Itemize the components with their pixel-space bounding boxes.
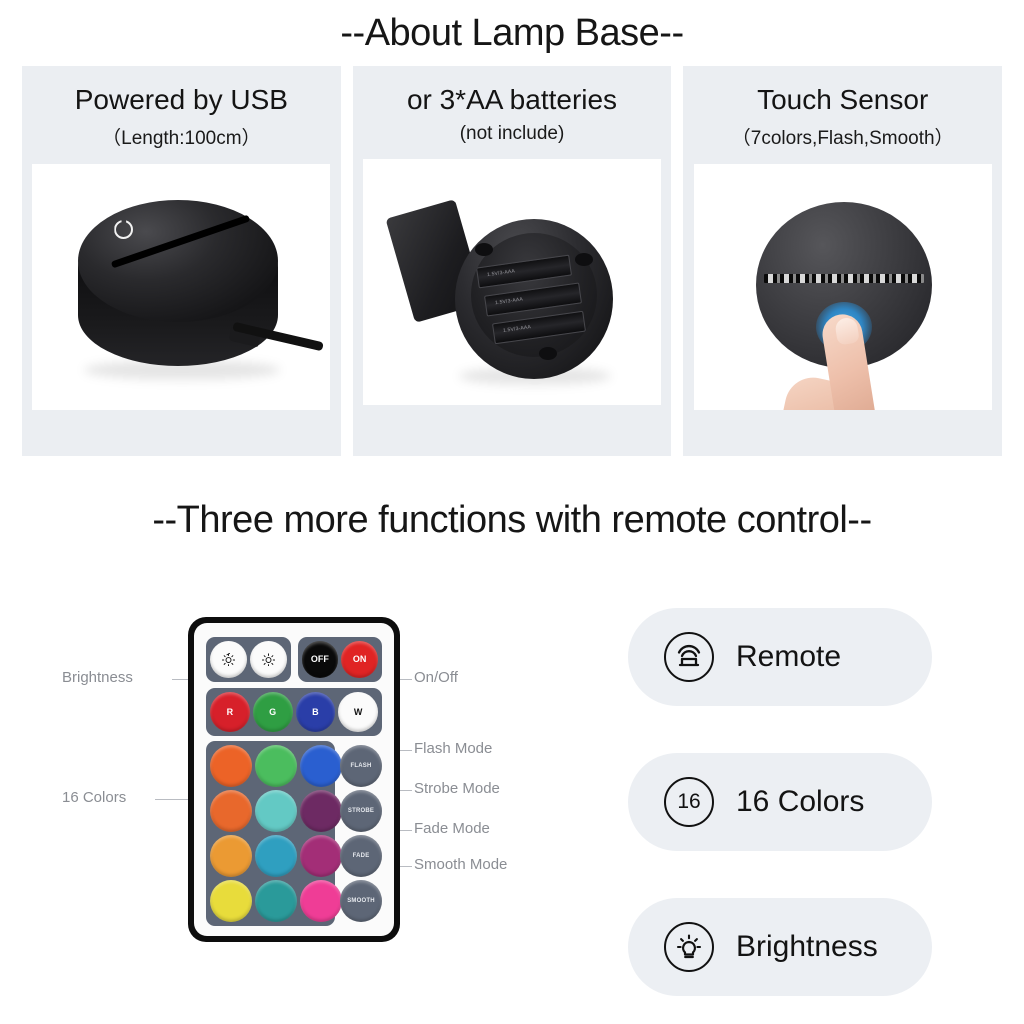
usb-lamp-base-photo [32, 164, 330, 410]
remote-control[interactable]: OFF ON R G B [188, 617, 400, 942]
color-swatch-button[interactable] [210, 790, 252, 832]
rgbw-pad: R G B W [206, 688, 382, 736]
remote-faceplate: OFF ON R G B [194, 623, 394, 936]
lamp-base-cards-row: Powered by USB （Length:100cm） or 3*AA ba… [22, 66, 1002, 456]
strobe-mode-label: STROBE [348, 808, 374, 814]
battery-slot: 1.5V/3-AAA [484, 283, 582, 317]
blue-button-label: B [312, 707, 319, 717]
feature-pill-label: Remote [736, 640, 841, 674]
battery-compartment-photo: 1.5V/3-AAA 1.5V/3-AAA 1.5V/3-AAA [363, 159, 661, 405]
color-swatch-button[interactable] [210, 880, 252, 922]
color-grid [206, 741, 335, 926]
color-swatch-button[interactable] [210, 745, 252, 787]
green-button[interactable]: G [253, 692, 293, 732]
callout-strobe-mode-label: Strobe Mode [414, 780, 500, 797]
card-title: Powered by USB [75, 84, 288, 116]
flash-mode-label: FLASH [351, 763, 372, 769]
color-swatch-button[interactable] [300, 745, 342, 787]
battery-slot-label: 1.5V/3-AAA [487, 268, 516, 278]
lightbulb-icon [664, 922, 714, 972]
section-title-remote: --Three more functions with remote contr… [0, 499, 1024, 542]
white-button[interactable]: W [338, 692, 378, 732]
feature-pill-label: 16 Colors [736, 785, 864, 819]
color-swatch-button[interactable] [255, 745, 297, 787]
battery-slot: 1.5V/3-AAA [476, 255, 572, 289]
remote-top-row: OFF ON [206, 637, 382, 688]
brightness-pad [206, 637, 291, 682]
callout-onoff-label: On/Off [414, 669, 458, 686]
mode-buttons-column: FLASH STROBE FADE SMOOTH [340, 741, 382, 926]
brightness-down-icon [262, 653, 275, 666]
battery-slot: 1.5V/3-AAA [492, 311, 586, 345]
card-powered-by-usb: Powered by USB （Length:100cm） [22, 66, 341, 456]
touch-sensor-photo [694, 164, 992, 410]
fade-mode-button[interactable]: FADE [340, 835, 382, 877]
on-button[interactable]: ON [341, 641, 378, 678]
feature-pill-brightness[interactable]: Brightness [628, 898, 932, 996]
card-touch-sensor: Touch Sensor （7colors,Flash,Smooth） [683, 66, 1002, 456]
feature-pill-remote[interactable]: Remote [628, 608, 932, 706]
callout-16colors-label: 16 Colors [62, 789, 126, 806]
off-button[interactable]: OFF [302, 641, 339, 678]
page-title: --About Lamp Base-- [0, 12, 1024, 55]
color-swatch-button[interactable] [255, 790, 297, 832]
on-button-label: ON [353, 654, 367, 664]
card-subtitle: (not include) [460, 123, 565, 145]
color-swatch-button[interactable] [255, 835, 297, 877]
card-subtitle: （Length:100cm） [102, 123, 260, 150]
card-title: or 3*AA batteries [407, 84, 617, 116]
battery-slot-label: 1.5V/3-AAA [495, 297, 524, 307]
colors-and-modes-row: FLASH STROBE FADE SMOOTH [206, 741, 382, 926]
infographic-page: --About Lamp Base-- Powered by USB （Leng… [0, 0, 1024, 1024]
color-swatch-button[interactable] [255, 880, 297, 922]
brightness-down-button[interactable] [250, 641, 287, 678]
card-title: Touch Sensor [757, 84, 928, 116]
off-button-label: OFF [311, 654, 329, 664]
smooth-mode-button[interactable]: SMOOTH [340, 880, 382, 922]
green-button-label: G [269, 707, 276, 717]
remote-signal-icon [664, 632, 714, 682]
led-strip [764, 274, 924, 283]
color-swatch-button[interactable] [300, 835, 342, 877]
color-swatch-button[interactable] [300, 880, 342, 922]
remote-control-section: Brightness 16 Colors On/Off Flash Mode S… [0, 560, 1024, 1024]
callout-brightness-label: Brightness [62, 669, 133, 686]
battery-slot-label: 1.5V/3-AAA [503, 324, 532, 334]
fade-mode-label: FADE [353, 853, 370, 859]
color-swatch-button[interactable] [210, 835, 252, 877]
card-subtitle: （7colors,Flash,Smooth） [732, 123, 954, 150]
callout-flash-mode-label: Flash Mode [414, 740, 492, 757]
power-pad: OFF ON [298, 637, 383, 682]
blue-button[interactable]: B [296, 692, 336, 732]
red-button-label: R [227, 707, 234, 717]
feature-pill-16-colors[interactable]: 16 16 Colors [628, 753, 932, 851]
card-aa-batteries: or 3*AA batteries (not include) 1.5V/3-A… [353, 66, 672, 456]
callout-smooth-mode-label: Smooth Mode [414, 856, 507, 873]
sixteen-badge-text: 16 [666, 779, 712, 825]
feature-pill-label: Brightness [736, 930, 878, 964]
red-button[interactable]: R [210, 692, 250, 732]
smooth-mode-label: SMOOTH [347, 898, 375, 904]
white-button-label: W [354, 707, 363, 717]
flash-mode-button[interactable]: FLASH [340, 745, 382, 787]
brightness-up-button[interactable] [210, 641, 247, 678]
color-swatch-button[interactable] [300, 790, 342, 832]
callout-fade-mode-label: Fade Mode [414, 820, 490, 837]
brightness-up-icon [222, 653, 235, 666]
strobe-mode-button[interactable]: STROBE [340, 790, 382, 832]
sixteen-circle-icon: 16 [664, 777, 714, 827]
